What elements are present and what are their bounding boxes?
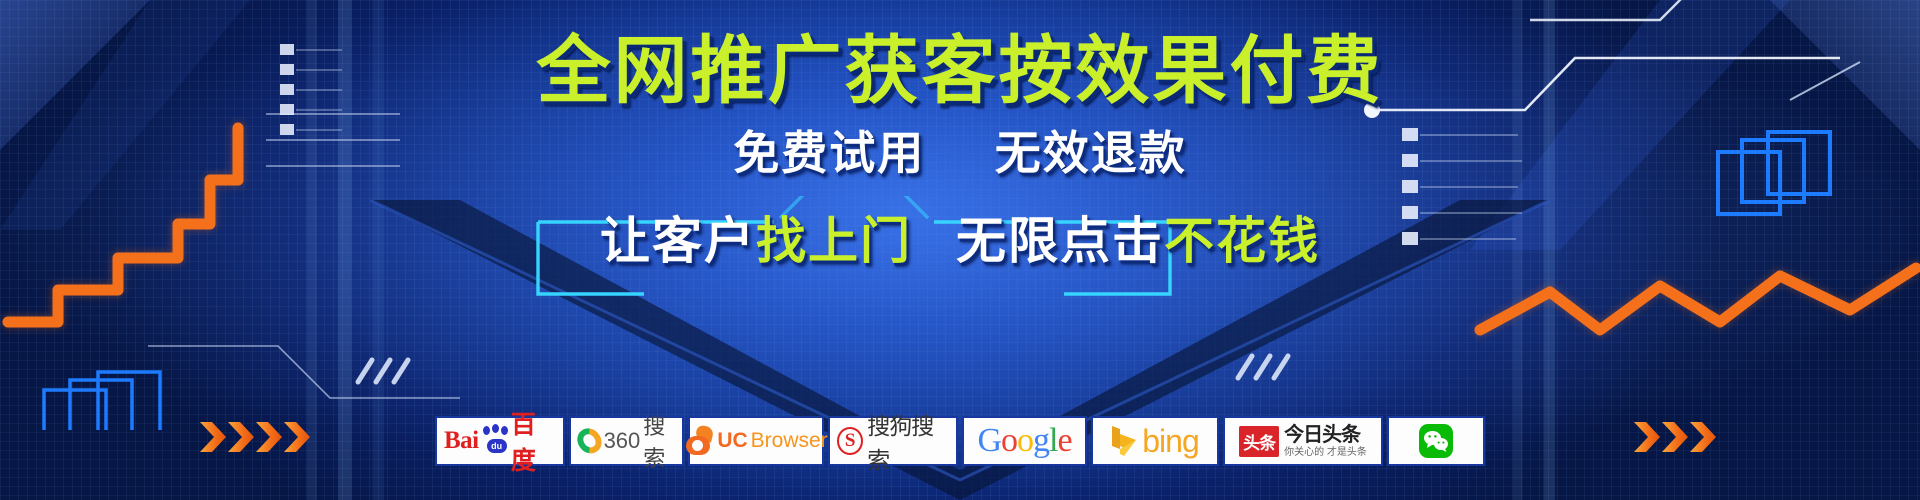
subtitle: 免费试用 无效退款	[0, 130, 1920, 176]
tagline-seg1-highlight: 找上门	[756, 213, 912, 269]
logo-tile-360-search[interactable]: 360 搜索	[569, 416, 684, 466]
chevron-left-group	[200, 418, 316, 456]
baidu-latin-text: Bai	[444, 427, 479, 455]
google-letter-g2: g	[1033, 422, 1049, 459]
tagline-seg1-plain: 让客户	[600, 213, 756, 269]
360-number-text: 360	[604, 428, 641, 454]
headline-block: 全网推广获客按效果付费 免费试用 无效退款	[0, 34, 1920, 282]
360-ring-icon	[572, 424, 606, 458]
logo-tile-baidu[interactable]: Bai du 百度	[435, 416, 565, 466]
slash-accents-left	[352, 352, 422, 392]
sogou-s-icon: S	[837, 427, 863, 455]
chevrons-right	[1634, 418, 1724, 456]
sogou-cn-text: 搜狗搜索	[867, 407, 949, 475]
google-letter-e: e	[1057, 422, 1071, 459]
tagline: 让客户找上门无限点击不花钱	[542, 202, 1378, 282]
google-logo: Google	[977, 424, 1071, 458]
uc-squirrel-icon	[684, 427, 714, 455]
bing-mark-icon	[1111, 425, 1137, 457]
baidu-du-badge: du	[487, 439, 507, 453]
subtitle-part-1: 免费试用	[733, 127, 925, 179]
slash-accents-right	[1232, 348, 1302, 388]
chevrons-left	[200, 418, 316, 456]
subtitle-part-2: 无效退款	[995, 127, 1187, 179]
uc-abbrev-text: UC	[717, 429, 747, 453]
promo-banner: 全网推广获客按效果付费 免费试用 无效退款	[0, 0, 1920, 500]
uc-browser-logo: UC Browser	[684, 427, 827, 455]
logo-tile-sogou[interactable]: S 搜狗搜索	[828, 416, 958, 466]
logo-tile-toutiao[interactable]: 头条 今日头条 你关心的 才是头条	[1223, 416, 1383, 466]
google-letter-o2: o	[1017, 422, 1033, 459]
sogou-logo: S 搜狗搜索	[837, 407, 949, 475]
logo-tile-wechat[interactable]	[1387, 416, 1485, 466]
logo-tile-google[interactable]: Google	[962, 416, 1087, 466]
wechat-icon	[1419, 424, 1453, 458]
uc-browser-text: Browser	[751, 429, 828, 453]
tagline-frame: 让客户找上门无限点击不花钱	[542, 202, 1378, 282]
logo-tile-bing[interactable]: bing	[1091, 416, 1219, 466]
360-search-logo: 360 搜索	[578, 409, 675, 473]
partner-logo-strip: Bai du 百度 360 搜索	[435, 416, 1485, 466]
page-title: 全网推广获客按效果付费	[0, 34, 1920, 108]
360-cn-text: 搜索	[643, 409, 675, 473]
logo-tile-uc-browser[interactable]: UC Browser	[688, 416, 824, 466]
toutiao-badge-icon: 头条	[1239, 426, 1279, 457]
toutiao-title-text: 今日头条	[1284, 425, 1360, 445]
baidu-cn-text: 百度	[511, 405, 556, 477]
google-letter-o1: o	[1001, 422, 1017, 459]
bing-logo: bing	[1111, 423, 1199, 460]
bing-text: bing	[1142, 423, 1199, 460]
toutiao-logo: 头条 今日头条 你关心的 才是头条	[1239, 425, 1367, 458]
tagline-seg2-plain: 无限点击	[956, 213, 1164, 269]
tagline-seg2-highlight: 不花钱	[1164, 213, 1320, 269]
toutiao-slogan-text: 你关心的 才是头条	[1284, 448, 1367, 458]
baidu-paw-icon: du	[481, 426, 509, 456]
toutiao-text-group: 今日头条 你关心的 才是头条	[1284, 425, 1367, 458]
baidu-logo: Bai du 百度	[444, 405, 556, 477]
google-letter-g1: G	[977, 422, 1001, 459]
chevron-right-group	[1634, 418, 1724, 456]
